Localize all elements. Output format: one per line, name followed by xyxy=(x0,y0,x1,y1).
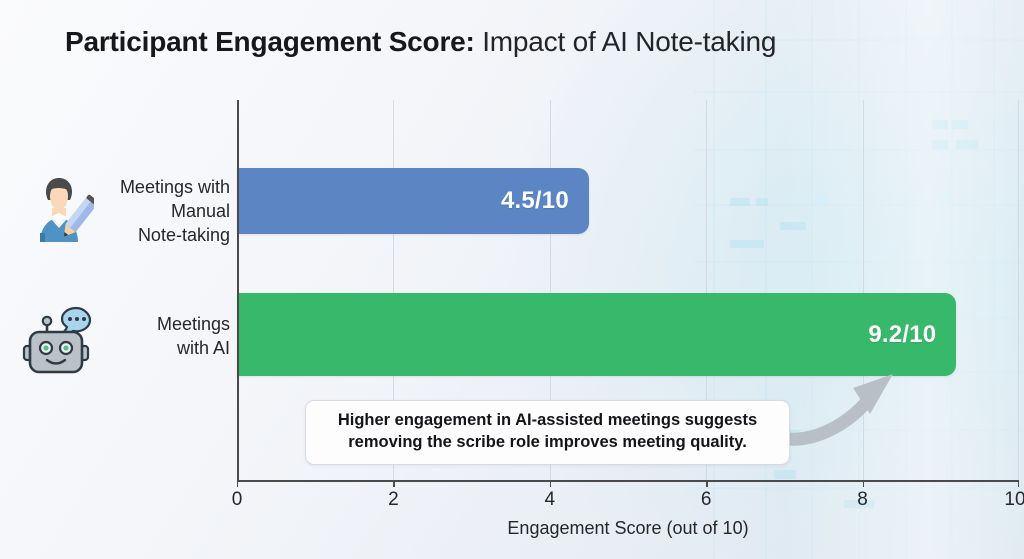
title-bold: Participant Engagement Score: xyxy=(65,26,475,57)
x-tick-label-4: 4 xyxy=(545,489,556,511)
annotation-line-1: Higher engagement in AI-assisted meeting… xyxy=(320,410,775,432)
tickmark-10 xyxy=(1018,480,1019,487)
tickmark-0 xyxy=(237,480,238,487)
title-regular: Impact of AI Note-taking xyxy=(475,26,777,57)
x-axis-line xyxy=(237,480,1019,482)
page-title: Participant Engagement Score: Impact of … xyxy=(65,26,776,58)
category-label-manual-line1: Meetings with xyxy=(80,176,230,200)
robot-chat-icon xyxy=(22,302,110,376)
x-tick-label-0: 0 xyxy=(232,489,243,511)
bar-manual-note-taking[interactable]: 4.5/10 xyxy=(237,168,589,234)
gridline-10 xyxy=(1018,100,1019,480)
tickmark-4 xyxy=(550,480,551,487)
tickmark-2 xyxy=(393,480,394,487)
bar-value-label-manual: 4.5/10 xyxy=(501,187,589,215)
person-writing-icon xyxy=(24,170,94,244)
y-axis-line xyxy=(237,100,239,481)
bar-meetings-with-ai[interactable]: 9.2/10 xyxy=(237,293,956,376)
chart-canvas: Participant Engagement Score: Impact of … xyxy=(0,0,1024,559)
annotation-callout: Higher engagement in AI-assisted meeting… xyxy=(305,400,790,465)
annotation-line-2: removing the scribe role improves meetin… xyxy=(320,432,775,454)
tickmark-8 xyxy=(863,480,864,487)
gridline-8 xyxy=(863,100,864,480)
bar-value-label-ai: 9.2/10 xyxy=(868,321,956,349)
x-axis-title: Engagement Score (out of 10) xyxy=(507,518,748,539)
x-tick-label-6: 6 xyxy=(701,489,712,511)
category-label-manual: Meetings with Manual Note-taking xyxy=(80,176,230,247)
category-label-manual-line3: Note-taking xyxy=(80,224,230,248)
x-tick-label-2: 2 xyxy=(388,489,399,511)
x-tick-label-8: 8 xyxy=(857,489,868,511)
x-tick-label-10: 10 xyxy=(1004,489,1024,511)
category-label-manual-line2: Manual xyxy=(80,200,230,224)
tickmark-6 xyxy=(706,480,707,487)
